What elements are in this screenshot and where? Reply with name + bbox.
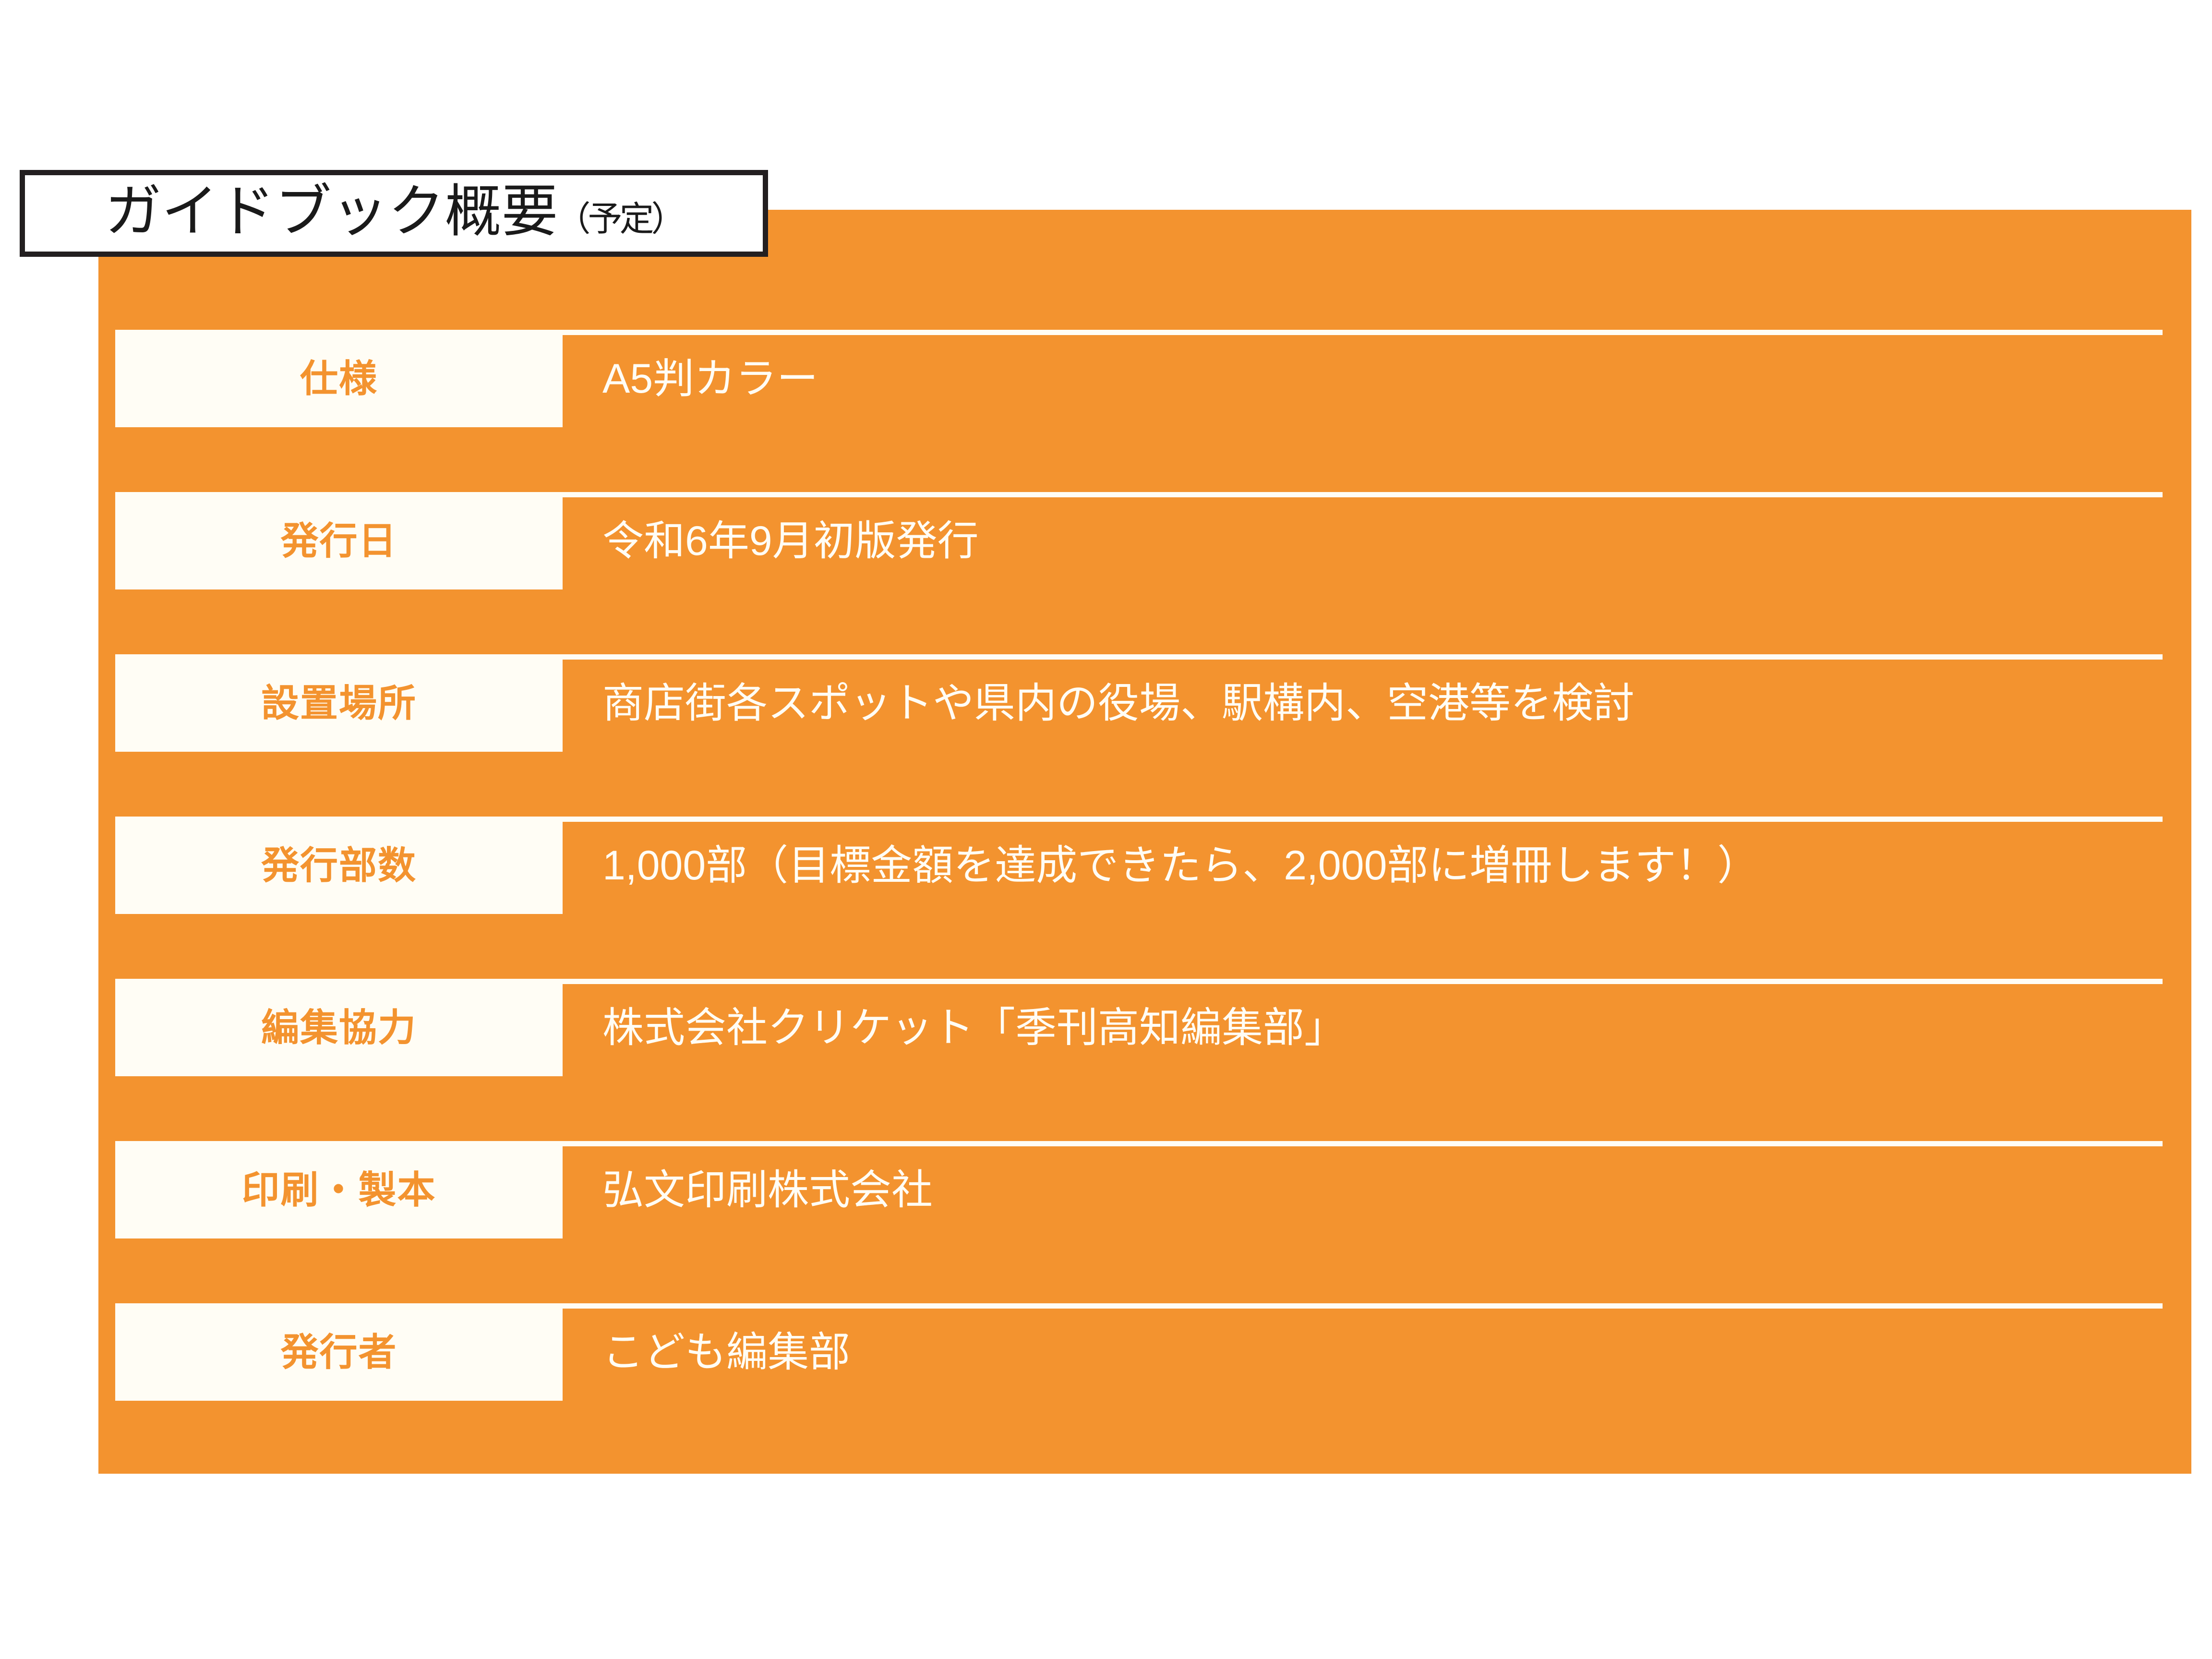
row-label-text: 発行日: [281, 522, 397, 560]
row-value-cell: 弘文印刷株式会社: [602, 1141, 933, 1238]
row-label-box: 仕様: [115, 330, 563, 427]
page-title-box: ガイドブック概要（予定）: [20, 170, 768, 257]
row-value-cell: こども編集部: [602, 1303, 850, 1401]
row-label-text: 編集協力: [261, 1009, 417, 1046]
page-title: ガイドブック概要（予定）: [105, 183, 683, 240]
row-label-text: 発行者: [281, 1333, 397, 1371]
row-label-box: 設置場所: [115, 654, 563, 752]
row-label-box: 発行日: [115, 492, 563, 589]
row-value-text: 令和6年9月初版発行: [602, 520, 979, 562]
row-value-cell: 商店街各スポットや県内の役場、駅構内、空港等を検討: [602, 654, 1635, 752]
row-label-text: 設置場所: [261, 684, 417, 722]
row-value-cell: 株式会社クリケット「季刊高知編集部」: [602, 979, 1346, 1076]
page-title-main: ガイドブック概要: [105, 183, 558, 240]
table-row: 発行日令和6年9月初版発行: [115, 492, 2163, 589]
row-label-box: 発行者: [115, 1303, 563, 1401]
row-value-text: 株式会社クリケット「季刊高知編集部」: [602, 1007, 1346, 1048]
row-value-cell: 1,000部（目標金額を達成できたら、2,000部に増冊します！）: [602, 817, 1758, 914]
row-value-text: A5判カラー: [602, 358, 818, 399]
row-label-box: 編集協力: [115, 979, 563, 1076]
page-title-sub: （予定）: [556, 202, 683, 237]
row-value-text: 弘文印刷株式会社: [602, 1169, 933, 1211]
row-label-text: 印刷・製本: [242, 1171, 436, 1209]
table-row: 編集協力株式会社クリケット「季刊高知編集部」: [115, 979, 2163, 1076]
table-row: 設置場所商店街各スポットや県内の役場、駅構内、空港等を検討: [115, 654, 2163, 752]
row-label-text: 発行部数: [261, 846, 417, 884]
row-label-box: 印刷・製本: [115, 1141, 563, 1238]
row-value-text: 商店街各スポットや県内の役場、駅構内、空港等を検討: [602, 683, 1635, 724]
row-value-cell: A5判カラー: [602, 330, 818, 427]
table-row: 印刷・製本弘文印刷株式会社: [115, 1141, 2163, 1238]
row-value-cell: 令和6年9月初版発行: [602, 492, 979, 589]
row-label-box: 発行部数: [115, 817, 563, 914]
row-value-text: こども編集部: [602, 1332, 850, 1373]
row-label-text: 仕様: [300, 360, 378, 397]
row-value-text: 1,000部（目標金額を達成できたら、2,000部に増冊します！）: [602, 845, 1758, 886]
table-row: 仕様A5判カラー: [115, 330, 2163, 427]
table-row: 発行部数1,000部（目標金額を達成できたら、2,000部に増冊します！）: [115, 817, 2163, 914]
table-row: 発行者こども編集部: [115, 1303, 2163, 1401]
